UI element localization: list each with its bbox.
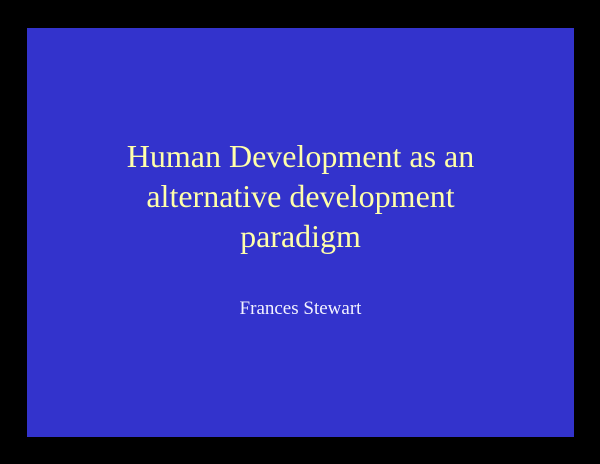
slide-frame: Human Development as an alternative deve… (0, 0, 600, 464)
slide-panel: Human Development as an alternative deve… (27, 28, 574, 437)
slide-title-line-2: alternative development (55, 176, 546, 216)
slide-author-name: Frances Stewart (55, 297, 546, 321)
slide-title-line-1: Human Development as an (55, 136, 546, 176)
slide-title-line-3: paradigm (55, 216, 546, 256)
slide-title: Human Development as an alternative deve… (55, 136, 546, 256)
slide-content: Human Development as an alternative deve… (27, 28, 574, 437)
